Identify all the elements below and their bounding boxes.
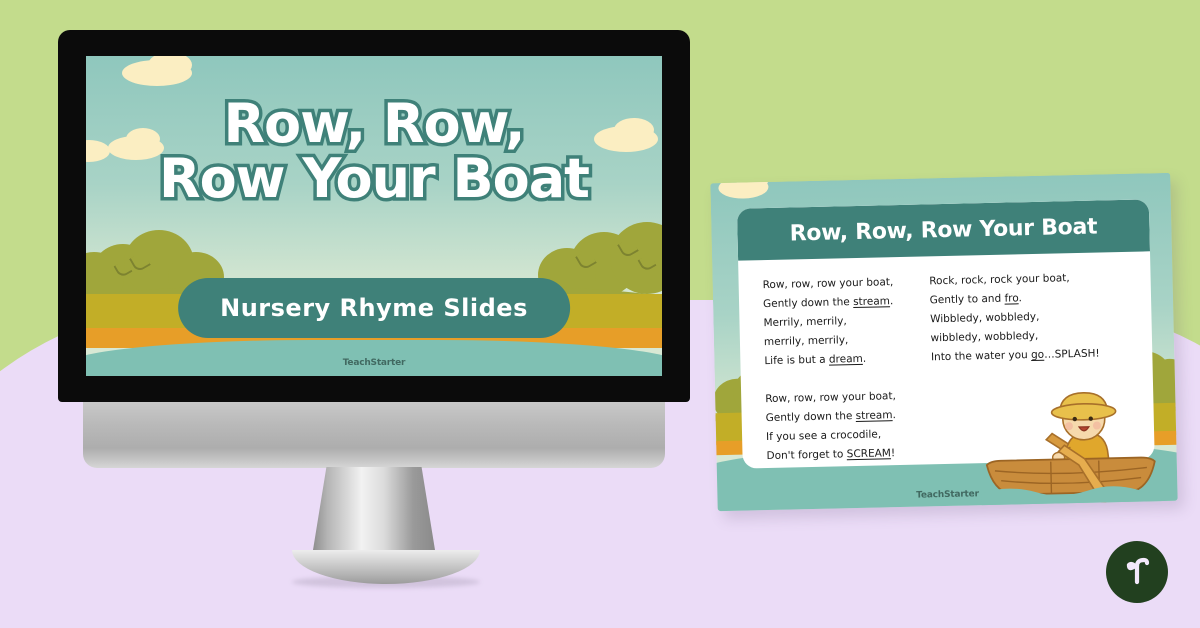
subtitle-pill: Nursery Rhyme Slides (178, 278, 570, 338)
lyric-emphasis: fro (1004, 292, 1018, 304)
lyric-line: Gently down the stream. (763, 292, 894, 314)
lyric-line: Into the water you go…SPLASH! (931, 344, 1100, 367)
lyric-emphasis: go (1031, 349, 1044, 361)
lyric-card[interactable]: Row, Row, Row Your Boat Row, row, row yo… (710, 173, 1177, 511)
monitor-screen[interactable]: Row, Row, Row Your Boat Nursery Rhyme Sl… (86, 56, 662, 376)
lyric-emphasis: stream (853, 295, 890, 308)
lyric-emphasis: SCREAM (847, 447, 891, 460)
background-lavender-base (0, 560, 1200, 628)
card-header: Row, Row, Row Your Boat (737, 199, 1150, 260)
lyrics-column-1: Row, row, row your boat,Gently down the … (738, 273, 897, 466)
watermark: TeachStarter (86, 358, 662, 368)
lyric-line: Don't forget to SCREAM! (766, 444, 897, 466)
page-title: Row, Row, Row Your Boat (86, 96, 662, 206)
lyric-emphasis: stream (856, 409, 893, 422)
monitor-chin (83, 402, 665, 468)
logo-sprout-icon (1120, 555, 1154, 589)
title-line-2: Row Your Boat (86, 151, 662, 206)
desktop-monitor: Row, Row, Row Your Boat Nursery Rhyme Sl… (58, 30, 690, 470)
monitor-stand-neck (313, 467, 435, 550)
teach-starter-logo[interactable] (1106, 541, 1168, 603)
lyric-emphasis: dream (829, 353, 863, 366)
title-line-1: Row, Row, (223, 92, 524, 155)
title-slide: Row, Row, Row Your Boat Nursery Rhyme Sl… (86, 56, 662, 376)
card-title: Row, Row, Row Your Boat (789, 214, 1097, 246)
